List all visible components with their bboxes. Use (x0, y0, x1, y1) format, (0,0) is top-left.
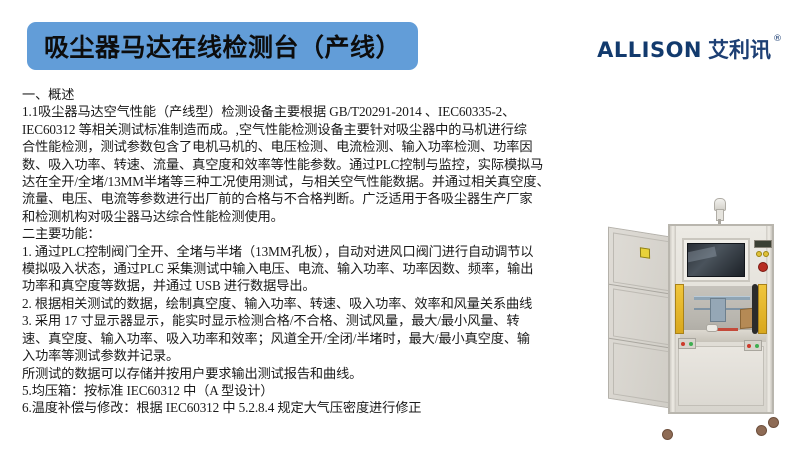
text-line: 达在全开/全堵/13MM半堵等三种工况使用测试，与相关空气性能数据。并通过相关真… (22, 173, 582, 190)
caster-wheel (768, 417, 779, 428)
text-line: 5.均压箱：按标准 IEC60312 中（A 型设计） (22, 382, 582, 399)
slide-canvas: 吸尘器马达在线检测台（产线） ALLISON 艾利讯 ® 一、概述 1.1吸尘器… (0, 0, 800, 450)
brand-logo: ALLISON 艾利讯 ® (597, 38, 782, 66)
cabinet-door-panel (613, 232, 671, 291)
logo-chinese-text: 艾利讯 (708, 38, 771, 62)
yellow-button-2[interactable] (763, 251, 769, 257)
monitor-bezel (682, 238, 750, 282)
text-line: 二主要功能： (22, 225, 582, 242)
cabinet-door-panel (613, 342, 671, 403)
test-bench-machine-illustration (596, 196, 796, 442)
registered-trademark-icon: ® (773, 34, 782, 44)
safety-light-curtain-right (758, 284, 767, 334)
machine-main-frame (668, 224, 774, 414)
text-line: 模拟吸入状态，通过PLC 采集测试中输入电压、电流、输入功率、功率因数、频率，输… (22, 260, 582, 277)
green-indicator-icon (755, 344, 759, 348)
motor-under-test (706, 324, 718, 332)
display-screen[interactable] (687, 243, 745, 277)
digital-readout-display (754, 240, 772, 248)
text-line: 合性能检测，测试参数包含了电机马机的、电压检测、电流检测、输入功率检测、功率因 (22, 138, 582, 155)
test-jig (710, 298, 726, 322)
text-line: 入功率等测试参数并记录。 (22, 347, 582, 364)
logo-english-text: ALLISON (597, 38, 702, 62)
cabinet-door-panel (613, 288, 671, 345)
emergency-stop-button[interactable] (758, 262, 768, 272)
text-line: 3. 采用 17 寸显示器显示，能实时显示检测合格/不合格、测试风量，最大/最小… (22, 312, 582, 329)
status-indicator-lamps-left (678, 338, 696, 349)
text-line: 功率和真空度等数据，并通过 USB 进行数据导出。 (22, 277, 582, 294)
lower-access-panel (678, 346, 764, 406)
status-indicator-lamps-right (744, 340, 762, 351)
text-line: 流量、电压、电流等参数进行出厂前的合格与不合格判断。广泛适用于各吸尘器生产厂家 (22, 190, 582, 207)
caster-wheel (756, 425, 767, 436)
text-line: 一、概述 (22, 86, 582, 103)
text-line: IEC60312 等相关测试标准制造而成。,空气性能检测设备主要针对吸尘器中的马… (22, 121, 582, 138)
machine-photo (596, 196, 796, 442)
text-line: 1. 通过PLC控制阀门全开、全堵与半堵（13MM孔板），自动对进风口阀门进行自… (22, 243, 582, 260)
warning-label-icon (640, 247, 650, 258)
text-line: 和检测机构对吸尘器马达综合性能检测使用。 (22, 208, 582, 225)
page-title: 吸尘器马达在线检测台（产线） (44, 28, 401, 64)
text-line: 1.1吸尘器马达空气性能（产线型）检测设备主要根据 GB/T20291-2014… (22, 103, 582, 120)
cable-bundle (752, 284, 758, 334)
body-text-block: 一、概述 1.1吸尘器马达空气性能（产线型）检测设备主要根据 GB/T20291… (22, 86, 582, 417)
red-indicator-icon (681, 342, 685, 346)
red-indicator-icon (747, 344, 751, 348)
text-line: 数、吸入功率、转速、流量、真空度和效率等性能参数。通过PLC控制与监控，实际模拟… (22, 156, 582, 173)
control-panel (754, 238, 772, 282)
red-wire-part (716, 328, 738, 331)
slide-title-box: 吸尘器马达在线检测台（产线） (27, 22, 418, 70)
signal-tower-light-icon (714, 198, 724, 226)
text-line: 速、真空度、输入功率、吸入功率和效率；风道全开/全闭/半堵时，最大/最小真空度、… (22, 330, 582, 347)
safety-light-curtain-left (675, 284, 684, 334)
caster-wheel (662, 429, 673, 440)
yellow-button-1[interactable] (756, 251, 762, 257)
text-line: 2. 根据相关测试的数据，绘制真空度、输入功率、转速、吸入功率、效率和风量关系曲… (22, 295, 582, 312)
text-line: 所测试的数据可以存储并按用户要求输出测试报告和曲线。 (22, 365, 582, 382)
text-line: 6.温度补偿与修改：根据 IEC60312 中 5.2.8.4 规定大气压密度进… (22, 399, 582, 416)
green-indicator-icon (689, 342, 693, 346)
